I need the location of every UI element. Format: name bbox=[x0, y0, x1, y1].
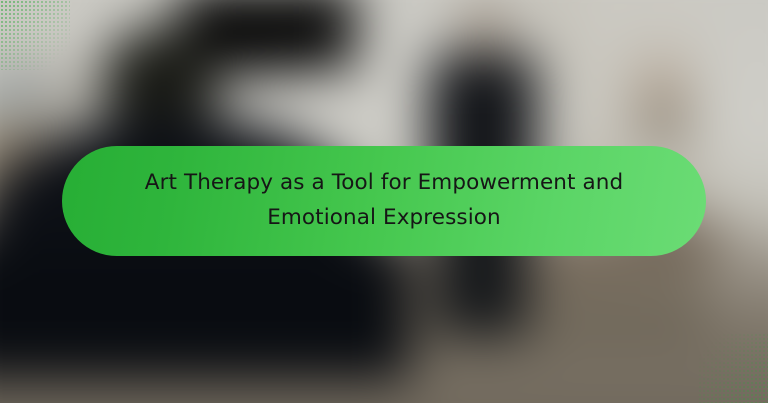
shelf-object-b bbox=[20, 68, 54, 114]
title-card: Art Therapy as a Tool for Empowerment an… bbox=[0, 0, 768, 403]
shelf-object-a bbox=[0, 76, 14, 112]
screen-mount bbox=[240, 68, 286, 80]
title-banner: Art Therapy as a Tool for Empowerment an… bbox=[62, 146, 706, 256]
background-figure-right-lower bbox=[640, 90, 686, 148]
page-title: Art Therapy as a Tool for Empowerment an… bbox=[145, 166, 623, 236]
doorway-edge bbox=[547, 0, 563, 90]
foreground-person-lower bbox=[0, 240, 410, 380]
